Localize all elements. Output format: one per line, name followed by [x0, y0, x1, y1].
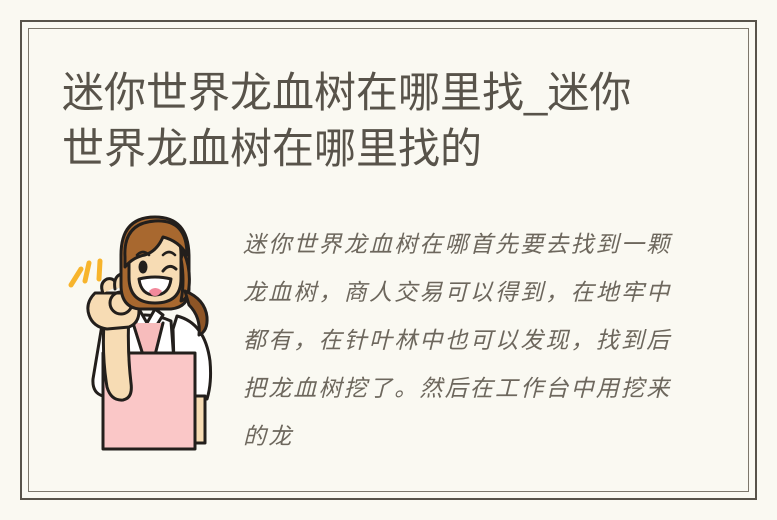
article-body-text: 迷你世界龙血树在哪首先要去找到一颗龙血树，商人交易可以得到，在地牢中都有，在针叶… [243, 221, 673, 471]
article-card: 迷你世界龙血树在哪里找_迷你世界龙血树在哪里找的 [20, 20, 757, 500]
sparkle-icon [71, 261, 100, 285]
page-title: 迷你世界龙血树在哪里找_迷你世界龙血树在哪里找的 [62, 65, 662, 177]
winking-woman-ok-gesture-illustration [59, 211, 229, 456]
open-eye [139, 261, 148, 274]
article-card-inner-border: 迷你世界龙血树在哪里找_迷你世界龙血树在哪里找的 [28, 28, 749, 492]
article-content-row: 迷你世界龙血树在哪首先要去找到一颗龙血树，商人交易可以得到，在地牢中都有，在针叶… [29, 189, 748, 489]
